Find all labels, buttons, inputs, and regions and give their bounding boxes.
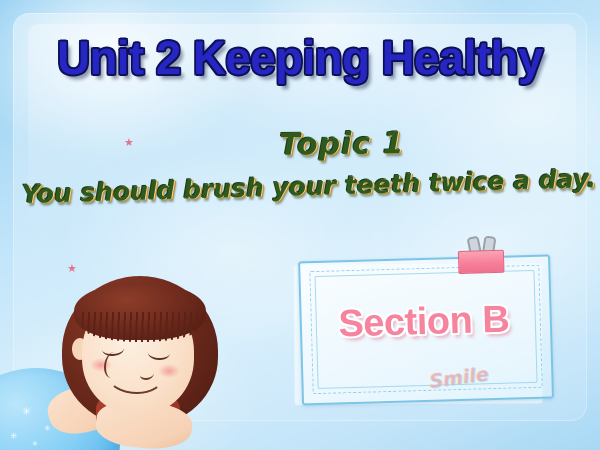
binder-clip-icon [458,242,503,273]
topic-sentence: You should brush your teeth twice a day. [9,164,600,210]
sparkle-icon [32,440,38,449]
section-label: Section B [299,299,548,346]
cartoon-girl-illustration [44,276,234,450]
girl-fringe [74,282,206,340]
presentation-slide: Unit 2 Keeping Healthy Topic 1 You shoul… [0,0,600,450]
section-card: Section B Smile [298,255,550,402]
sparkle-icon [10,432,18,441]
slide-title: Unit 2 Keeping Healthy [9,32,591,84]
sparkle-icon [22,408,31,417]
clip-body [458,250,505,274]
girl-mouth-curve [104,352,122,378]
